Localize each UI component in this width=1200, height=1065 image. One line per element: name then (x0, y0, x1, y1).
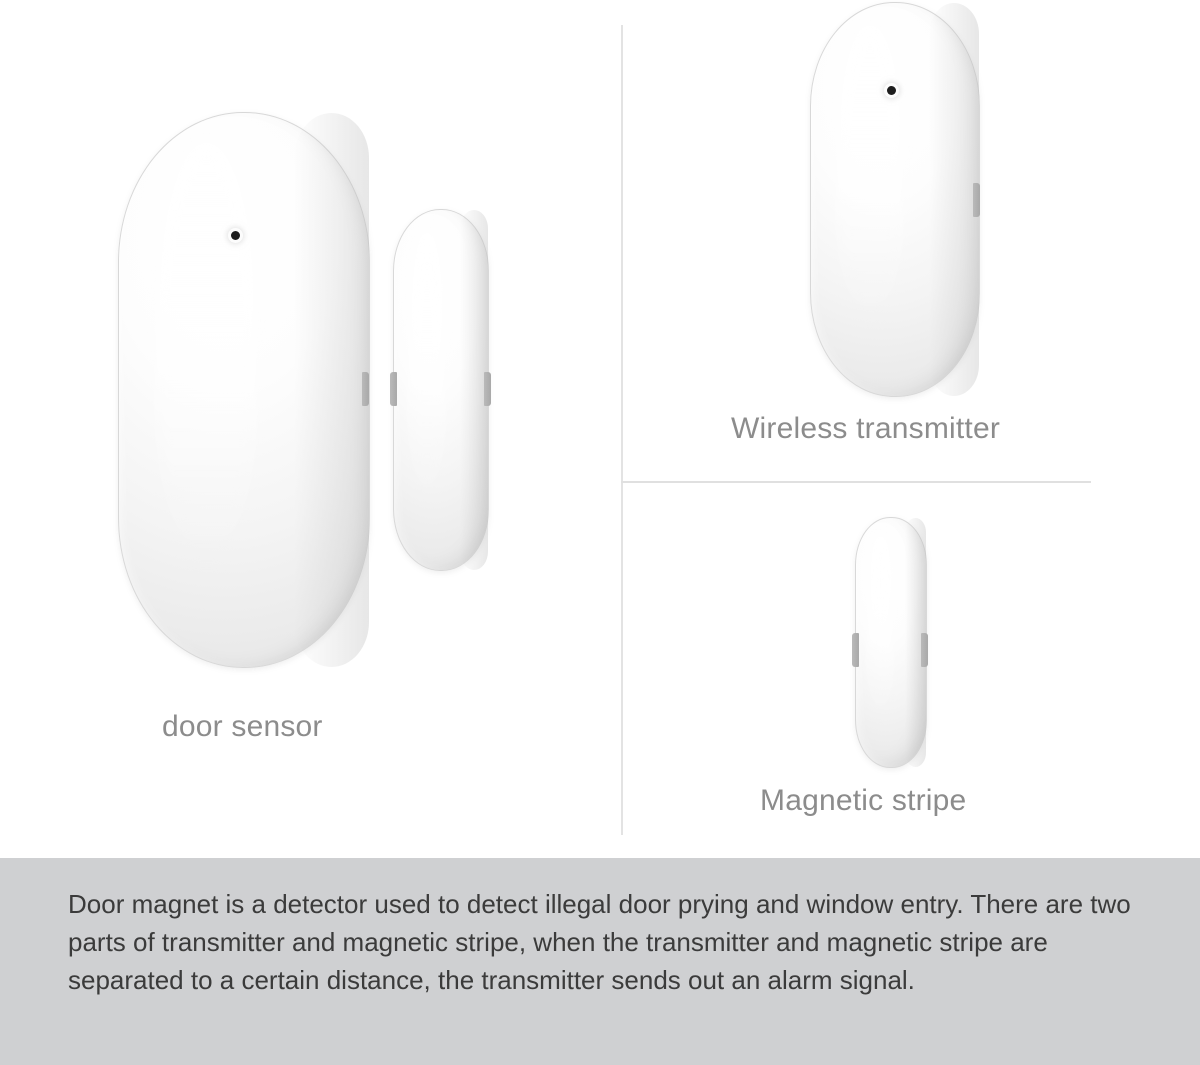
vertical-divider (621, 25, 623, 835)
caption-magnetic-stripe: Magnetic stripe (760, 784, 966, 818)
led-indicator-icon (231, 231, 240, 240)
side-tab-icon (484, 372, 491, 406)
edge-shading (929, 3, 979, 396)
illustration-stage: door sensor Wireless transmitter Magneti… (0, 0, 1200, 858)
side-tab-icon (921, 633, 928, 667)
gloss-highlight (154, 141, 259, 573)
edge-shading (294, 113, 369, 667)
description-text: Door magnet is a detector used to detect… (68, 885, 1150, 999)
product-infographic: door sensor Wireless transmitter Magneti… (0, 0, 1200, 1065)
gloss-highlight (407, 228, 446, 509)
description-panel: Door magnet is a detector used to detect… (0, 858, 1200, 1065)
door-sensor-magnet-bar (393, 209, 489, 571)
side-tab-icon (973, 183, 980, 217)
gloss-highlight (866, 530, 895, 724)
magnetic-stripe-body (855, 517, 927, 768)
horizontal-divider (621, 481, 1091, 483)
side-tab-icon (362, 372, 369, 406)
door-sensor-body (118, 112, 370, 668)
side-tab-icon (390, 372, 397, 406)
wireless-transmitter-body (810, 2, 980, 397)
caption-door-sensor: door sensor (162, 710, 323, 744)
led-indicator-icon (887, 86, 896, 95)
gloss-highlight (835, 23, 906, 330)
side-tab-icon (852, 633, 859, 667)
caption-wireless-transmitter: Wireless transmitter (731, 412, 1000, 446)
